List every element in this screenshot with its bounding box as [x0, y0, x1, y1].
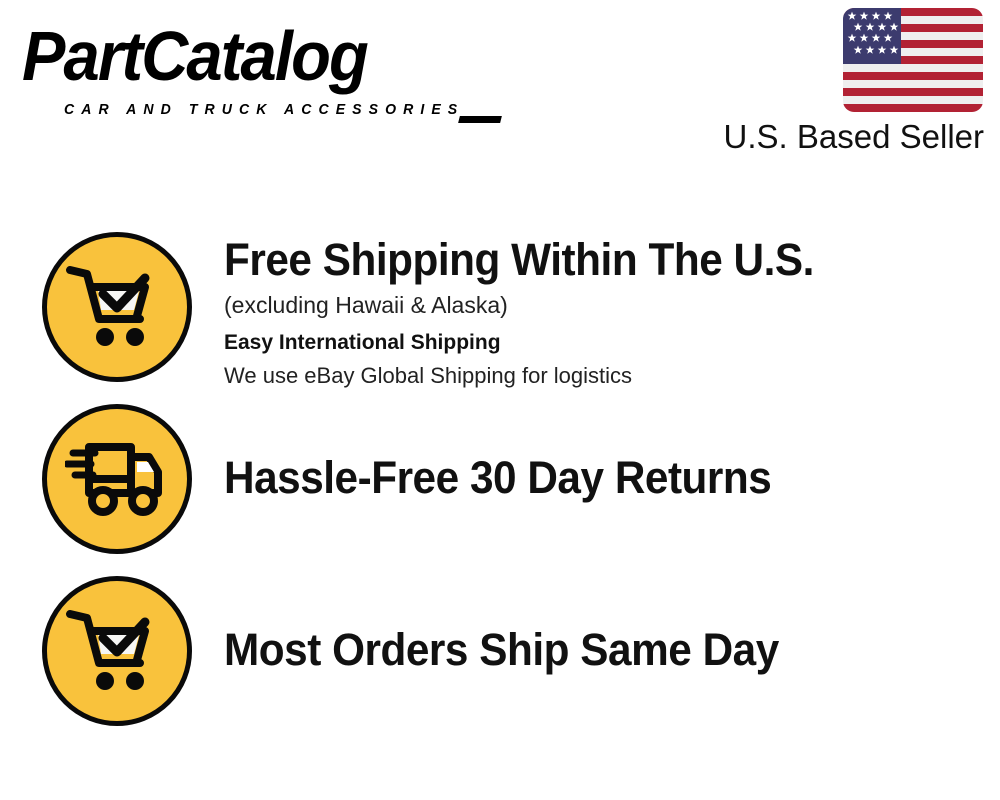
shopping-cart-check-icon	[42, 576, 192, 726]
feature-headline: Free Shipping Within The U.S.	[224, 232, 953, 288]
delivery-truck-icon	[42, 404, 192, 554]
us-based-seller-label: U.S. Based Seller	[724, 118, 984, 156]
shipping-info-banner: PartCatalog CAR AND TRUCK ACCESSORIES	[0, 0, 1000, 800]
banner-header: PartCatalog CAR AND TRUCK ACCESSORIES	[0, 0, 1000, 175]
logo-swoosh-mark	[458, 116, 502, 123]
feature-text-same-day-shipping: Most Orders Ship Same Day	[192, 576, 1000, 678]
feature-row-free-shipping: Free Shipping Within The U.S. (excluding…	[0, 232, 1000, 404]
feature-headline: Most Orders Ship Same Day	[224, 622, 953, 678]
brand-tagline: CAR AND TRUCK ACCESSORIES	[64, 102, 464, 118]
feature-subdescription: We use eBay Global Shipping for logistic…	[224, 360, 1000, 392]
feature-text-returns: Hassle-Free 30 Day Returns	[192, 404, 1000, 506]
feature-subheading: Easy International Shipping	[224, 326, 1000, 360]
feature-row-same-day-shipping: Most Orders Ship Same Day	[0, 576, 1000, 748]
brand-logo: PartCatalog CAR AND TRUCK ACCESSORIES	[22, 18, 492, 118]
feature-subline: (excluding Hawaii & Alaska)	[224, 288, 1000, 322]
brand-wordmark: PartCatalog	[22, 18, 459, 94]
us-flag-icon	[843, 8, 983, 112]
feature-text-free-shipping: Free Shipping Within The U.S. (excluding…	[192, 232, 1000, 392]
shopping-cart-check-icon	[42, 232, 192, 382]
feature-headline: Hassle-Free 30 Day Returns	[224, 450, 953, 506]
feature-list: Free Shipping Within The U.S. (excluding…	[0, 232, 1000, 748]
feature-row-returns: Hassle-Free 30 Day Returns	[0, 404, 1000, 576]
